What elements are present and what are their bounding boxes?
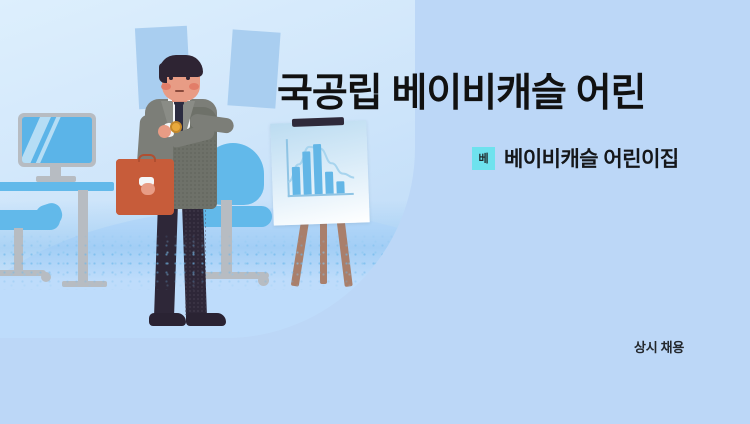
illustration-panel (0, 0, 415, 338)
mouth (175, 90, 184, 92)
monitor-screen (22, 117, 92, 163)
cheek-blush (189, 83, 199, 90)
job-posting-banner: 국공립 베이비캐슬 어린 베 베이비캐슬 어린이집 상시 채용 (0, 0, 750, 424)
chart-bar (302, 151, 311, 194)
brand-name: 베이비캐슬 어린이집 (504, 143, 679, 173)
hand (141, 183, 155, 195)
chart-bar (313, 144, 323, 194)
office-chair-left-seat (0, 210, 60, 230)
chart-bar (292, 167, 301, 195)
brand-row[interactable]: 베 베이비캐슬 어린이집 (472, 143, 679, 173)
flipchart-board (270, 120, 370, 225)
ground-speckle-texture (0, 232, 415, 290)
businessman-figure (128, 55, 258, 338)
hair-sideburn (159, 63, 167, 83)
brand-badge-icon: 베 (472, 147, 495, 170)
wristwatch-icon (170, 121, 182, 133)
status-badge: 상시 채용 (634, 337, 684, 356)
monitor-icon (18, 113, 96, 167)
shoe-icon (149, 313, 186, 326)
cheek-blush (161, 83, 171, 90)
page-title: 국공립 베이비캐슬 어린 (277, 73, 645, 116)
chart-bar (336, 181, 344, 193)
desk-surface (0, 182, 114, 191)
briefcase-handle (138, 154, 156, 162)
shoe-icon (186, 313, 226, 326)
chart-bar (325, 172, 334, 194)
